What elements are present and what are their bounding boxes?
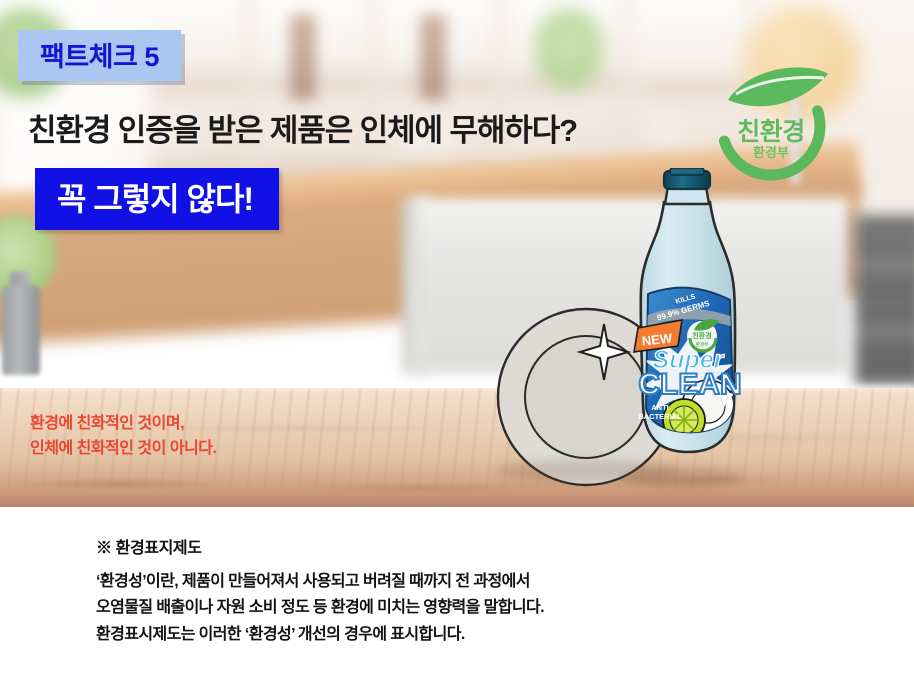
answer-text: 꼭 그렇지 않다! [57, 181, 253, 217]
red-note-line-2: 인체에 친화적인 것이 아니다. [30, 437, 216, 462]
potted-plant-vase [2, 285, 40, 375]
background-canister-b [420, 14, 446, 100]
factcheck-badge-label: 팩트체크 5 [40, 42, 159, 72]
background-plant-mid [535, 10, 603, 88]
dish-soap-bottle: KILLS 99.9% GERMS 친환경 환경부 NEW [612, 168, 762, 498]
caption-line-2: 오염물질 배출이나 자원 소비 정도 등 환경에 미치는 영향력을 말합니다. [96, 595, 544, 621]
infographic-page: KILLS 99.9% GERMS 친환경 환경부 NEW [0, 0, 914, 693]
caption-body: ‘환경성’이란, 제품이 만들어져서 사용되고 버려질 때까지 전 과정에서 오… [96, 569, 544, 648]
caption-title: ※ 환경표지제도 [96, 534, 202, 558]
red-note-line-1: 환경에 친화적인 것이며, [30, 412, 216, 437]
red-emphasis-note: 환경에 친화적인 것이며, 인체에 친화적인 것이 아니다. [30, 412, 216, 462]
eco-certification-seal: 친환경 환경부 [706, 60, 836, 190]
svg-text:ANTI: ANTI [651, 403, 669, 412]
bottle-cap-icon [664, 168, 710, 189]
kitchen-scene: KILLS 99.9% GERMS 친환경 환경부 NEW [0, 0, 914, 507]
background-cabinet [855, 215, 914, 385]
product-name-bottom: CLEAN [638, 368, 741, 401]
caption-panel: ※ 환경표지제도 ‘환경성’이란, 제품이 만들어져서 사용되고 버려질 때까지… [0, 507, 914, 693]
svg-text:BACTERIAL: BACTERIAL [638, 412, 682, 421]
caption-line-1: ‘환경성’이란, 제품이 만들어져서 사용되고 버려질 때까지 전 과정에서 [96, 569, 544, 595]
factcheck-badge: 팩트체크 5 [18, 30, 181, 81]
answer-highlight-box: 꼭 그렇지 않다! [35, 168, 279, 230]
svg-text:친환경: 친환경 [692, 331, 711, 340]
background-canister-a [290, 14, 316, 100]
page-title: 친환경 인증을 받은 제품은 인체에 무해하다? [28, 105, 577, 150]
eco-seal-sub-text: 환경부 [706, 142, 836, 161]
tabletop-edge [0, 386, 914, 391]
caption-line-3: 환경표시제도는 이러한 ‘환경성’ 개선의 경우에 표시합니다. [96, 622, 544, 648]
seal-leaf-icon [728, 67, 828, 106]
